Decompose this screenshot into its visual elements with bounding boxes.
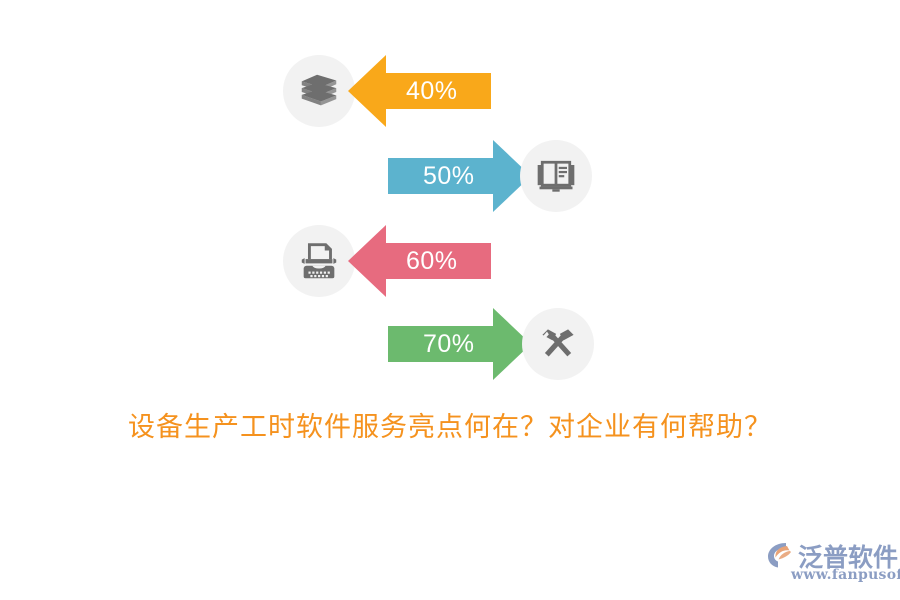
book-stack-icon-badge [283,55,355,127]
open-book-icon [534,154,578,198]
crossed-hammers-icon-badge [522,308,594,380]
crossed-hammers-icon [536,322,580,366]
arrow-percent-label: 50% [423,140,475,212]
arrow-row-70: 70% [388,308,531,380]
arrow-percent-label: 60% [406,225,458,297]
typewriter-icon [296,238,342,284]
brand-watermark: 泛普软件 www.fanpusoft.com [765,538,893,586]
infographic-canvas: 40% 50% [0,0,900,400]
arrow-row-50: 50% [388,140,531,212]
open-book-icon-badge [520,140,592,212]
typewriter-icon-badge [283,225,355,297]
arrow-row-40: 40% [348,55,491,127]
arrow-row-60: 60% [348,225,491,297]
brand-url: www.fanpusoft.com [791,567,900,583]
page-title: 设备生产工时软件服务亮点何在？对企业有何帮助？ [0,405,900,444]
arrow-percent-label: 70% [423,308,475,380]
arrow-percent-label: 40% [406,55,458,127]
book-stack-icon [296,68,342,114]
